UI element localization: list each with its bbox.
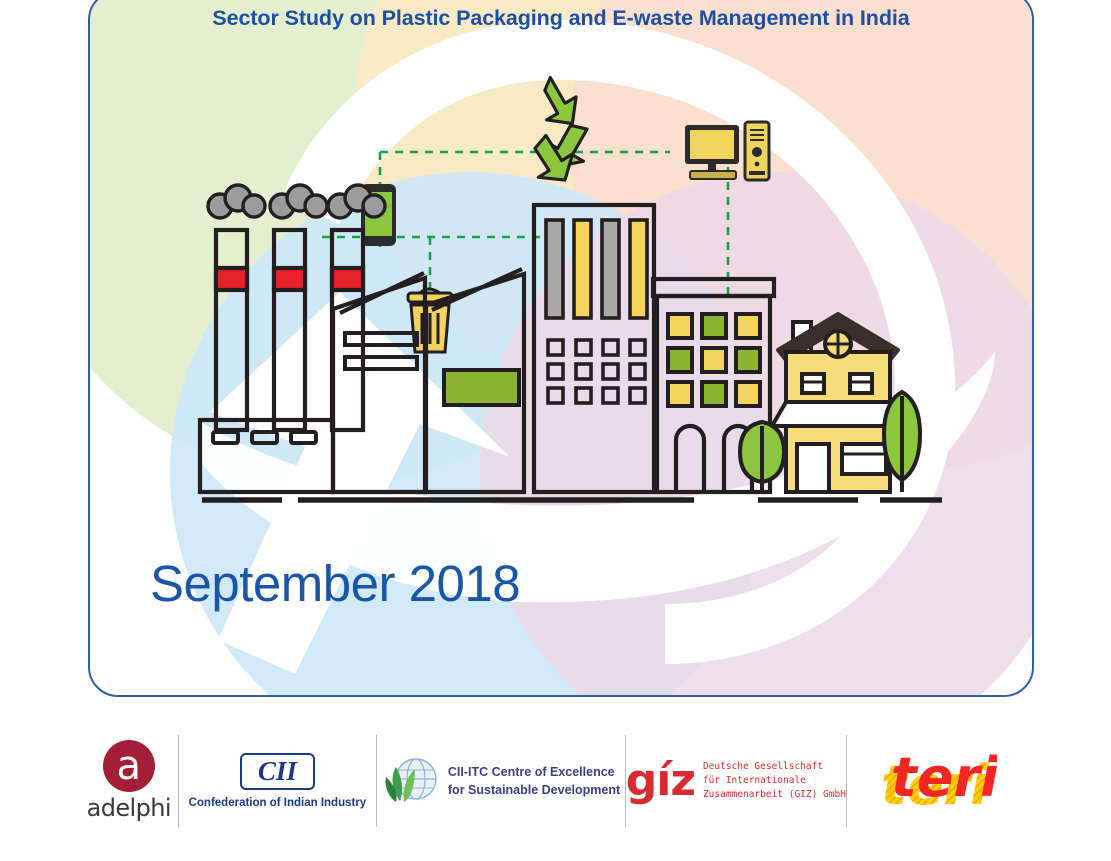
cii-itc-line2: for Sustainable Development	[448, 781, 620, 799]
smoke-clouds	[208, 185, 385, 218]
adelphi-mark-icon: a	[103, 740, 155, 792]
desktop-computer-icon	[685, 122, 769, 180]
giz-line3: Zusammenarbeit (GIZ) GmbH	[703, 788, 846, 802]
factory-icon	[200, 230, 363, 492]
partner-logo-bar: a adelphi CII Confederation of Indian In…	[80, 735, 1030, 827]
giz-line1: Deutsche Gesellschaft	[703, 760, 846, 774]
tree-icon	[740, 422, 784, 490]
globe-leaf-icon	[382, 755, 440, 807]
cii-itc-line1: CII-ITC Centre of Excellence	[448, 763, 620, 781]
recycle-icon	[524, 78, 587, 189]
giz-line2: für Internationale	[703, 774, 846, 788]
page-title: Sector Study on Plastic Packaging and E-…	[90, 6, 1032, 31]
teri-wordmark: teri teri	[879, 752, 997, 812]
logo-giz: gíz Deutsche Gesellschaft für Internatio…	[625, 735, 846, 827]
publication-date: September 2018	[150, 554, 520, 613]
office-tower-icon	[534, 205, 654, 492]
svg-text:teri: teri	[891, 752, 997, 809]
house-icon	[772, 314, 904, 492]
logo-teri: teri teri	[846, 735, 1030, 827]
logo-cii-itc-coe: CII-ITC Centre of Excellence for Sustain…	[376, 735, 624, 827]
logo-adelphi: a adelphi	[80, 735, 178, 827]
adelphi-wordmark: adelphi	[87, 794, 171, 822]
giz-wordmark: gíz	[626, 762, 695, 799]
cii-acronym: CII	[240, 753, 315, 789]
cii-subtitle: Confederation of Indian Industry	[189, 797, 367, 809]
logo-cii: CII Confederation of Indian Industry	[178, 735, 377, 827]
giz-fullname: Deutsche Gesellschaft für Internationale…	[703, 760, 846, 801]
cii-itc-text: CII-ITC Centre of Excellence for Sustain…	[448, 763, 620, 799]
cover-card: Sector Study on Plastic Packaging and E-…	[88, 0, 1034, 697]
